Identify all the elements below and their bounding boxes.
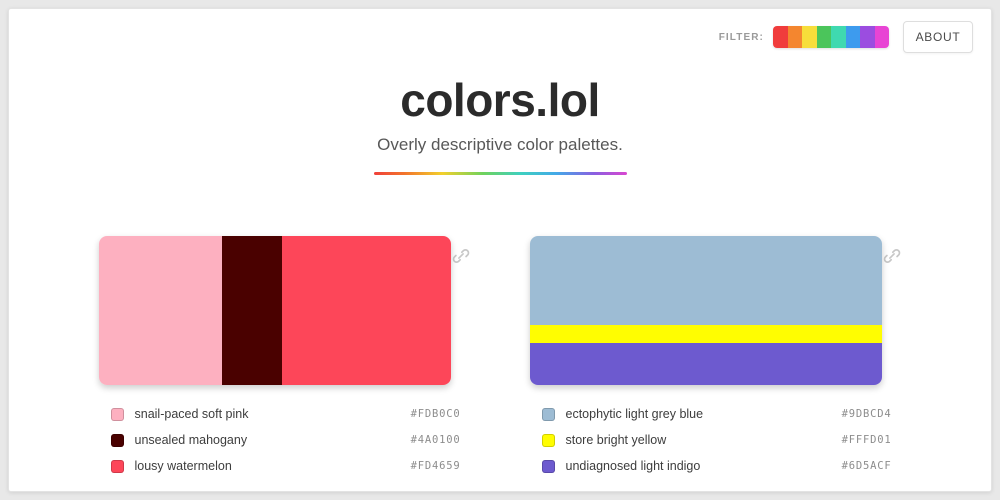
palette-left-band-0[interactable] xyxy=(99,236,222,385)
tagline: Overly descriptive color palettes. xyxy=(9,135,991,155)
top-bar: FILTER: ABOUT xyxy=(719,21,973,53)
hero-section: colors.lol Overly descriptive color pale… xyxy=(9,75,991,175)
legend-color-name: undiagnosed light indigo xyxy=(566,459,701,473)
palette-left-band-2[interactable] xyxy=(282,236,451,385)
legend-row[interactable]: unsealed mahogany#4A0100 xyxy=(111,427,461,453)
filter-label: FILTER: xyxy=(719,32,764,43)
filter-segment-7[interactable] xyxy=(875,26,890,48)
legend-hex-value[interactable]: #6D5ACF xyxy=(842,460,892,472)
legend-row[interactable]: store bright yellow#FFFD01 xyxy=(542,427,892,453)
legend-swatch xyxy=(111,460,124,473)
filter-segment-4[interactable] xyxy=(831,26,846,48)
link-icon[interactable] xyxy=(882,246,902,266)
legend-swatch xyxy=(542,408,555,421)
rainbow-divider-icon xyxy=(374,172,627,175)
filter-segment-1[interactable] xyxy=(788,26,803,48)
filter-segment-0[interactable] xyxy=(773,26,788,48)
legend-row[interactable]: ectophytic light grey blue#9DBCD4 xyxy=(542,401,892,427)
legend-hex-value[interactable]: #9DBCD4 xyxy=(842,408,892,420)
legend-hex-value[interactable]: #FDB0C0 xyxy=(411,408,461,420)
filter-group: FILTER: xyxy=(719,26,889,48)
filter-segment-2[interactable] xyxy=(802,26,817,48)
rainbow-filter-bar[interactable] xyxy=(773,26,889,48)
legend-row[interactable]: undiagnosed light indigo#6D5ACF xyxy=(542,453,892,479)
legend-color-name: lousy watermelon xyxy=(135,459,232,473)
palette-left-card[interactable] xyxy=(99,236,451,385)
legend-color-name: store bright yellow xyxy=(566,433,667,447)
legend-hex-value[interactable]: #FD4659 xyxy=(411,460,461,472)
palette-right-band-0[interactable] xyxy=(530,236,882,325)
palette-left: snail-paced soft pink#FDB0C0unsealed mah… xyxy=(99,236,471,479)
palette-left-band-1[interactable] xyxy=(222,236,282,385)
filter-segment-5[interactable] xyxy=(846,26,861,48)
filter-segment-3[interactable] xyxy=(817,26,832,48)
page-frame: FILTER: ABOUT colors.lol Overly descript… xyxy=(8,8,992,492)
legend-swatch xyxy=(542,434,555,447)
legend-swatch xyxy=(542,460,555,473)
link-icon[interactable] xyxy=(451,246,471,266)
legend-swatch xyxy=(111,434,124,447)
palette-list: snail-paced soft pink#FDB0C0unsealed mah… xyxy=(9,236,991,479)
legend-hex-value[interactable]: #4A0100 xyxy=(411,434,461,446)
legend-row[interactable]: snail-paced soft pink#FDB0C0 xyxy=(111,401,461,427)
about-button[interactable]: ABOUT xyxy=(903,21,973,53)
legend-swatch xyxy=(111,408,124,421)
legend-row[interactable]: lousy watermelon#FD4659 xyxy=(111,453,461,479)
legend-color-name: ectophytic light grey blue xyxy=(566,407,704,421)
palette-right-band-2[interactable] xyxy=(530,343,882,385)
filter-segment-6[interactable] xyxy=(860,26,875,48)
palette-left-card-holder xyxy=(99,236,471,385)
legend-hex-value[interactable]: #FFFD01 xyxy=(842,434,892,446)
palette-right: ectophytic light grey blue#9DBCD4store b… xyxy=(530,236,902,479)
page-title: colors.lol xyxy=(9,75,991,126)
palette-right-card[interactable] xyxy=(530,236,882,385)
palette-right-band-1[interactable] xyxy=(530,325,882,343)
palette-right-card-holder xyxy=(530,236,902,385)
legend-color-name: unsealed mahogany xyxy=(135,433,248,447)
legend-color-name: snail-paced soft pink xyxy=(135,407,249,421)
palette-left-legend: snail-paced soft pink#FDB0C0unsealed mah… xyxy=(99,401,461,479)
palette-right-legend: ectophytic light grey blue#9DBCD4store b… xyxy=(530,401,892,479)
